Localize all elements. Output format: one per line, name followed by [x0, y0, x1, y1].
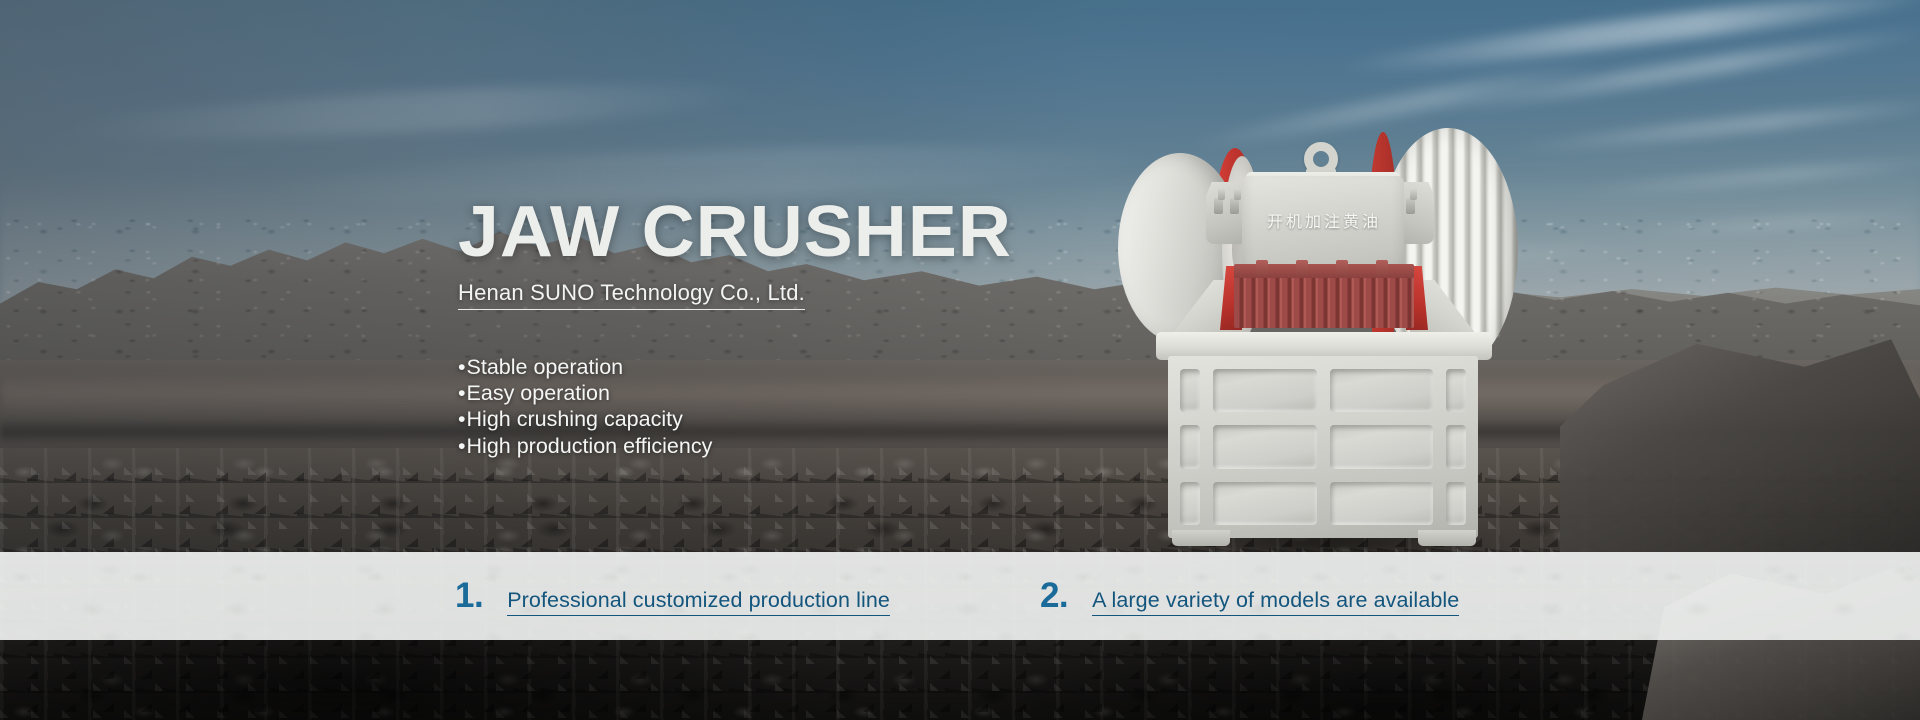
bar-item-2: 2. A large variety of models are availab… [1040, 576, 1459, 616]
hero-copy: JAW CRUSHER Henan SUNO Technology Co., L… [458, 196, 1098, 459]
frame-cell [1330, 369, 1434, 412]
frame-cell [1213, 425, 1317, 468]
bar-item-2-link[interactable]: A large variety of models are available [1092, 588, 1459, 616]
bar-texture [0, 552, 1920, 640]
frame-cell [1446, 425, 1466, 468]
frame-cell [1213, 482, 1317, 525]
list-item-label: Stable operation [467, 355, 624, 379]
bearing-stud [1234, 188, 1241, 200]
bearing-stud [1410, 188, 1417, 200]
crusher-frame-grid [1168, 356, 1478, 538]
list-item: •Stable operation [458, 354, 1098, 380]
page-title: JAW CRUSHER [458, 196, 1111, 268]
bar-item-1-number: 1. [455, 576, 483, 616]
jaw-tooth [1296, 260, 1308, 276]
frame-foot-right [1418, 530, 1476, 546]
frame-cell [1180, 482, 1200, 525]
bar-item-2-number: 2. [1040, 576, 1068, 616]
frame-foot-left [1172, 530, 1230, 546]
list-item-label: High production efficiency [467, 434, 713, 458]
frame-cell [1180, 369, 1200, 412]
machine-chinese-label: 开机加注黄油 [1250, 208, 1398, 232]
frame-cell [1213, 369, 1317, 412]
frame-cell [1446, 482, 1466, 525]
bullet-marker: • [458, 381, 466, 405]
bullet-marker: • [458, 407, 466, 431]
company-name: Henan SUNO Technology Co., Ltd. [458, 280, 805, 310]
jaw-crusher-illustration: 开机加注黄油 [1110, 120, 1550, 540]
bullet-marker: • [458, 434, 466, 458]
jaw-plate-teeth [1234, 270, 1414, 328]
frame-cell [1330, 482, 1434, 525]
bearing-bolt [1214, 198, 1223, 214]
bar-item-1: 1. Professional customized production li… [455, 576, 890, 616]
bar-item-1-link[interactable]: Professional customized production line [507, 588, 890, 616]
frame-cell [1180, 425, 1200, 468]
jaw-tooth [1376, 260, 1388, 276]
jaw-tooth [1336, 260, 1348, 276]
feature-list: •Stable operation •Easy operation •High … [458, 354, 1098, 459]
bearing-stud [1218, 188, 1225, 200]
bullet-marker: • [458, 355, 466, 379]
bearing-bolt [1406, 198, 1415, 214]
list-item-label: Easy operation [467, 381, 610, 405]
jaw-tooth [1256, 260, 1268, 276]
list-item: •Easy operation [458, 380, 1098, 406]
frame-cell [1446, 369, 1466, 412]
list-item: •High production efficiency [458, 433, 1098, 459]
bearing-bolt [1230, 198, 1239, 214]
list-item-label: High crushing capacity [467, 407, 683, 431]
frame-cell [1330, 425, 1434, 468]
list-item: •High crushing capacity [458, 406, 1098, 432]
bottom-feature-bar: 1. Professional customized production li… [0, 552, 1920, 640]
hero-banner: 开机加注黄油 JAW CRUSHER [0, 0, 1920, 720]
